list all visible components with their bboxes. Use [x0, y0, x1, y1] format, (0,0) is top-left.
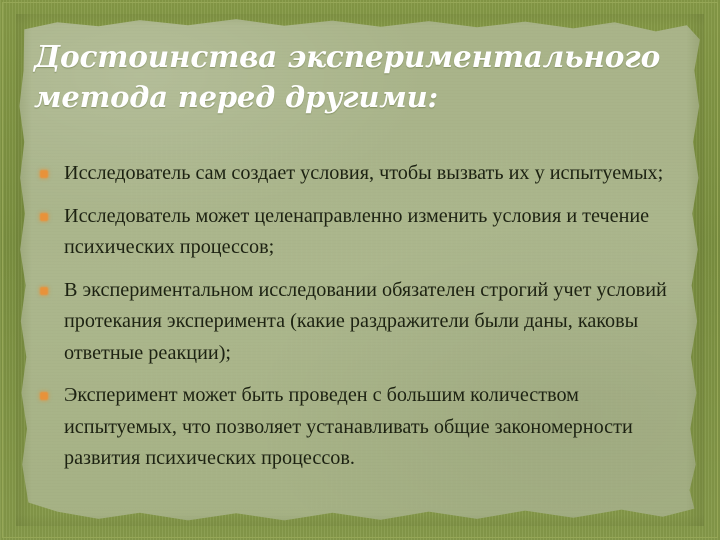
slide-title: Достоинства экспериментального метода пе…	[34, 36, 664, 118]
list-item-text: Эксперимент может быть проведен с больши…	[64, 380, 682, 475]
list-item: Исследователь сам создает условия, чтобы…	[34, 158, 682, 190]
list-item: Исследователь может целенаправленно изме…	[34, 201, 682, 264]
list-item: В экспериментальном исследовании обязате…	[34, 275, 682, 370]
list-item-text: В экспериментальном исследовании обязате…	[64, 275, 682, 370]
list-item-text: Исследователь может целенаправленно изме…	[64, 201, 682, 264]
slide-canvas: Достоинства экспериментального метода пе…	[0, 0, 720, 540]
square-bullet-icon	[40, 392, 48, 400]
square-bullet-icon	[40, 213, 48, 221]
square-bullet-icon	[40, 287, 48, 295]
list-item: Эксперимент может быть проведен с больши…	[34, 380, 682, 475]
slide-title-line-2: метода перед другими:	[34, 77, 664, 118]
bullet-list: Исследователь сам создает условия, чтобы…	[34, 158, 682, 475]
slide-title-line-1: Достоинства экспериментального	[34, 36, 664, 77]
square-bullet-icon	[40, 170, 48, 178]
list-item-text: Исследователь сам создает условия, чтобы…	[64, 158, 682, 190]
slide-content: Достоинства экспериментального метода пе…	[0, 0, 720, 540]
